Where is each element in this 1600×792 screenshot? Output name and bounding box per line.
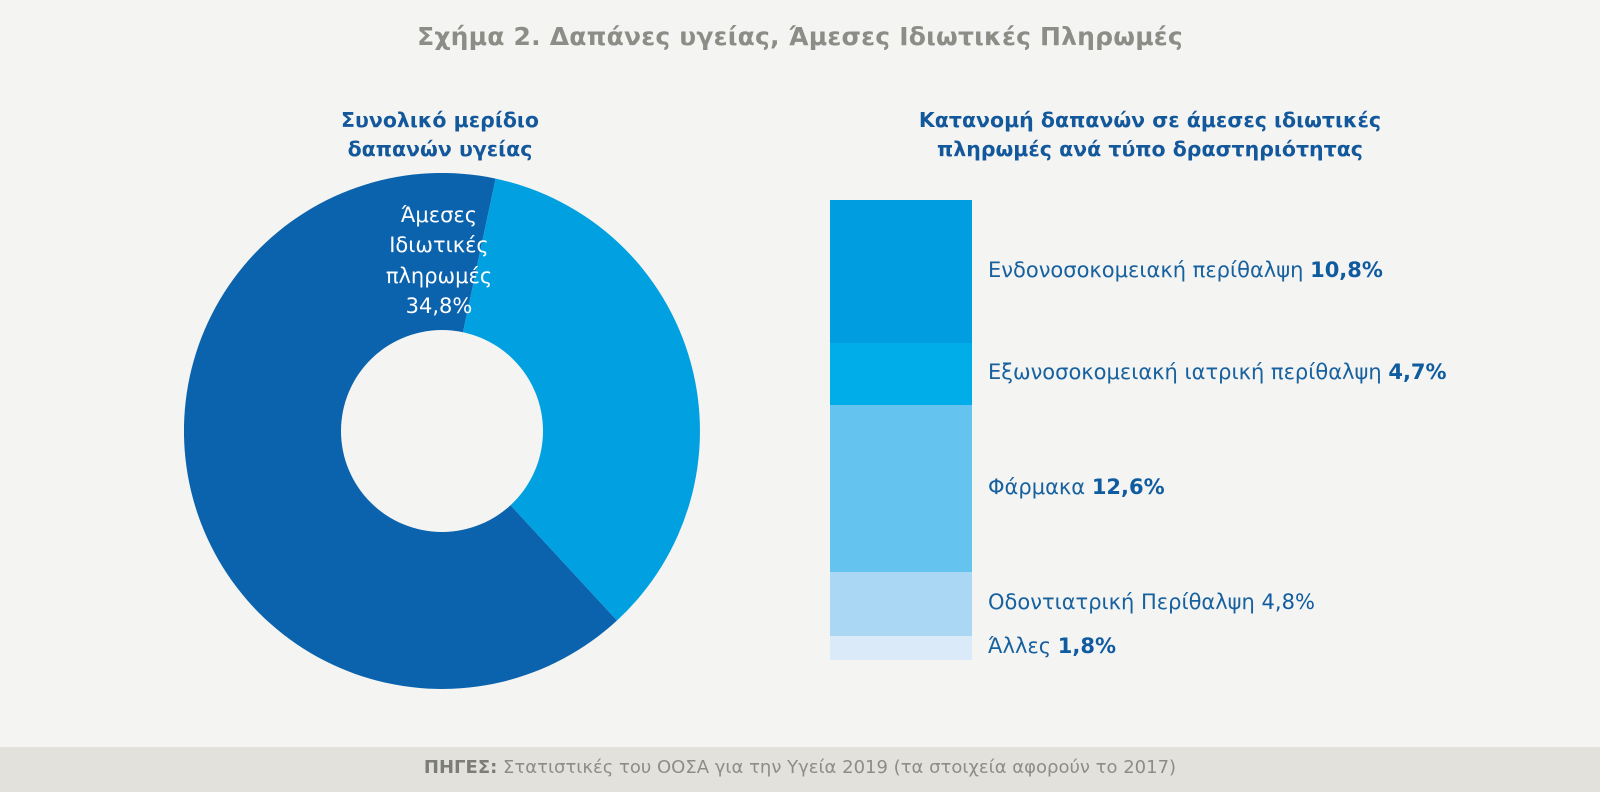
bar-label-inpatient-name: Ενδονοσοκομειακή περίθαλψη: [988, 258, 1303, 282]
source-text: Στατιστικές του ΟΟΣΑ για την Υγεία 2019 …: [503, 757, 1176, 778]
bar-label-dental-name: Οδοντιατρική Περίθαλψη: [988, 590, 1255, 614]
donut-label-line1: Άμεσες: [349, 200, 529, 230]
bar-label-dental-value: 4,8%: [1262, 590, 1315, 614]
bar-label-outpatient-name: Εξωνοσοκομειακή ιατρική περίθαλψη: [988, 360, 1382, 384]
donut-label-line3: πληρωμές: [349, 261, 529, 291]
bar-label-pharma: Φάρμακα 12,6%: [988, 475, 1165, 499]
donut-center-hole: [341, 330, 543, 532]
bar-segment-other[interactable]: [830, 636, 972, 660]
left-panel-subtitle-line1: Συνολικό μερίδιο: [190, 106, 690, 135]
page-title: Σχήμα 2. Δαπάνες υγείας, Άμεσες Ιδιωτικέ…: [0, 22, 1600, 51]
bar-label-other-name: Άλλες: [988, 634, 1051, 658]
bar-segment-outpatient[interactable]: [830, 343, 972, 405]
bar-label-dental: Οδοντιατρική Περίθαλψη 4,8%: [988, 590, 1315, 614]
bar-label-pharma-name: Φάρμακα: [988, 475, 1085, 499]
bar-label-inpatient: Ενδονοσοκομειακή περίθαλψη 10,8%: [988, 258, 1383, 282]
donut-label-line2: Ιδιωτικές: [349, 230, 529, 260]
bar-segment-pharma[interactable]: [830, 405, 972, 572]
right-panel-subtitle: Κατανομή δαπανών σε άμεσες ιδιωτικές πλη…: [880, 106, 1420, 164]
left-panel-subtitle-line2: δαπανών υγείας: [190, 135, 690, 164]
source-prefix: ΠΗΓΕΣ:: [424, 757, 497, 778]
donut-slice-label: Άμεσες Ιδιωτικές πληρωμές 34,8%: [349, 200, 529, 322]
right-panel-subtitle-line2: πληρωμές ανά τύπο δραστηριότητας: [880, 135, 1420, 164]
bar-label-pharma-value: 12,6%: [1092, 475, 1165, 499]
bar-label-other: Άλλες 1,8%: [988, 634, 1116, 658]
bar-label-other-value: 1,8%: [1058, 634, 1116, 658]
right-panel-subtitle-line1: Κατανομή δαπανών σε άμεσες ιδιωτικές: [880, 106, 1420, 135]
bar-label-outpatient-value: 4,7%: [1388, 360, 1446, 384]
bar-label-inpatient-value: 10,8%: [1310, 258, 1383, 282]
bar-label-outpatient: Εξωνοσοκομειακή ιατρική περίθαλψη 4,7%: [988, 360, 1447, 384]
bar-segment-dental[interactable]: [830, 572, 972, 636]
bar-segment-inpatient[interactable]: [830, 200, 972, 343]
donut-label-value: 34,8%: [349, 291, 529, 321]
source-footer-text: ΠΗΓΕΣ: Στατιστικές του ΟΟΣΑ για την Υγεί…: [0, 757, 1600, 778]
stacked-bar-chart: [830, 200, 972, 660]
source-footer: ΠΗΓΕΣ: Στατιστικές του ΟΟΣΑ για την Υγεί…: [0, 747, 1600, 792]
left-panel-subtitle: Συνολικό μερίδιο δαπανών υγείας: [190, 106, 690, 164]
